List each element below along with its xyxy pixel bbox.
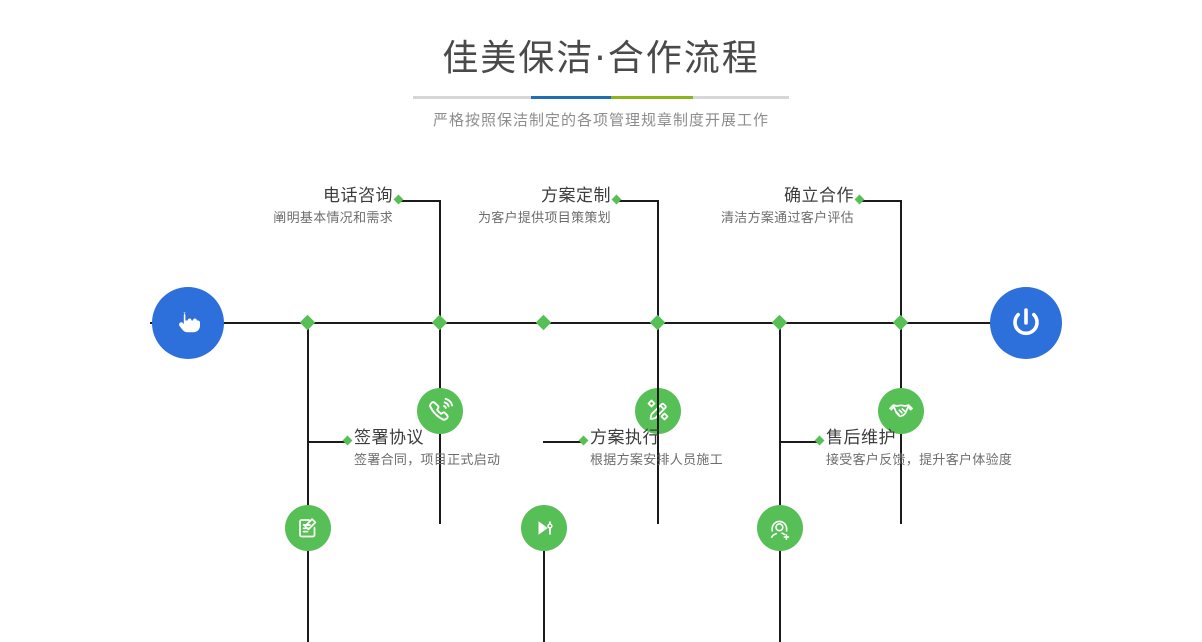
step-desc: 清洁方案通过客户评估: [672, 209, 854, 229]
process-timeline: 电话咨询 阐明基本情况和需求 方案定制 为客户提供项目策策划: [0, 150, 1202, 502]
connector-vertical-bottom-1-upper: [307, 323, 309, 505]
node-icon-bottom-2[interactable]: [521, 505, 567, 551]
headset-support-icon: [767, 515, 793, 541]
timeline-start-node[interactable]: [152, 287, 224, 359]
step-label-bottom-2: 方案执行 根据方案安排人员施工: [590, 427, 850, 471]
step-title: 确立合作: [672, 185, 854, 207]
step-desc: 为客户提供项目策策划: [433, 209, 611, 229]
marker-diamond-top-3: [855, 195, 865, 205]
page-header: 佳美保洁·合作流程 严格按照保洁制定的各项管理规章制度开展工作: [0, 0, 1202, 130]
connector-vertical-bottom-2: [543, 551, 545, 642]
flow-diagram-page: 佳美保洁·合作流程 严格按照保洁制定的各项管理规章制度开展工作: [0, 0, 1202, 502]
step-title: 方案执行: [590, 427, 850, 449]
connector-horizontal-bottom-2: [543, 441, 583, 443]
step-desc: 接受客户反馈，提升客户体验度: [826, 451, 1126, 471]
connector-horizontal-top-2: [617, 200, 658, 202]
page-title: 佳美保洁·合作流程: [0, 0, 1202, 82]
marker-diamond-bottom-1: [343, 436, 353, 446]
axis-diamond-bottom-3: [772, 315, 788, 331]
pointing-hand-icon: [168, 303, 208, 343]
step-label-bottom-1: 签署协议 签署合同，项目正式启动: [354, 427, 614, 471]
divider-blue-segment: [531, 96, 611, 99]
connector-vertical-top-3: [900, 200, 902, 388]
connector-vertical-bottom-1: [307, 551, 309, 642]
step-desc: 根据方案安排人员施工: [590, 451, 850, 471]
marker-diamond-top-1: [394, 195, 404, 205]
connector-horizontal-bottom-1: [307, 441, 347, 443]
step-desc: 阐明基本情况和需求: [215, 209, 393, 229]
connector-vertical-top-2: [657, 200, 659, 524]
power-icon: [1005, 302, 1047, 344]
play-execute-icon: [531, 515, 557, 541]
step-title: 电话咨询: [215, 185, 393, 207]
step-desc: 签署合同，项目正式启动: [354, 451, 614, 471]
step-label-top-3: 确立合作 清洁方案通过客户评估: [672, 185, 854, 229]
step-label-top-2: 方案定制 为客户提供项目策策划: [433, 185, 611, 229]
connector-vertical-bottom-3-upper: [779, 323, 781, 505]
title-divider: [413, 96, 789, 99]
timeline-axis: [150, 322, 1052, 324]
page-subtitle: 严格按照保洁制定的各项管理规章制度开展工作: [0, 109, 1202, 130]
node-icon-bottom-3[interactable]: [757, 505, 803, 551]
timeline-end-node[interactable]: [990, 287, 1062, 359]
document-sign-icon: [295, 515, 321, 541]
step-label-top-1: 电话咨询 阐明基本情况和需求: [215, 185, 393, 229]
step-title: 售后维护: [826, 427, 1126, 449]
axis-diamond-bottom-1: [300, 315, 316, 331]
step-title: 方案定制: [433, 185, 611, 207]
phone-call-icon: [426, 397, 454, 425]
handshake-icon: [887, 397, 915, 425]
step-label-bottom-3: 售后维护 接受客户反馈，提升客户体验度: [826, 427, 1126, 471]
axis-diamond-bottom-2: [536, 315, 552, 331]
divider-green-segment: [611, 96, 693, 99]
step-title: 签署协议: [354, 427, 614, 449]
connector-horizontal-top-3: [860, 200, 901, 202]
axis-diamond-top-3: [893, 315, 909, 331]
marker-diamond-top-2: [612, 195, 622, 205]
axis-diamond-top-2: [650, 315, 666, 331]
axis-diamond-top-1: [432, 315, 448, 331]
connector-horizontal-bottom-3: [779, 441, 819, 443]
connector-vertical-bottom-3: [779, 551, 781, 642]
node-icon-bottom-1[interactable]: [285, 505, 331, 551]
